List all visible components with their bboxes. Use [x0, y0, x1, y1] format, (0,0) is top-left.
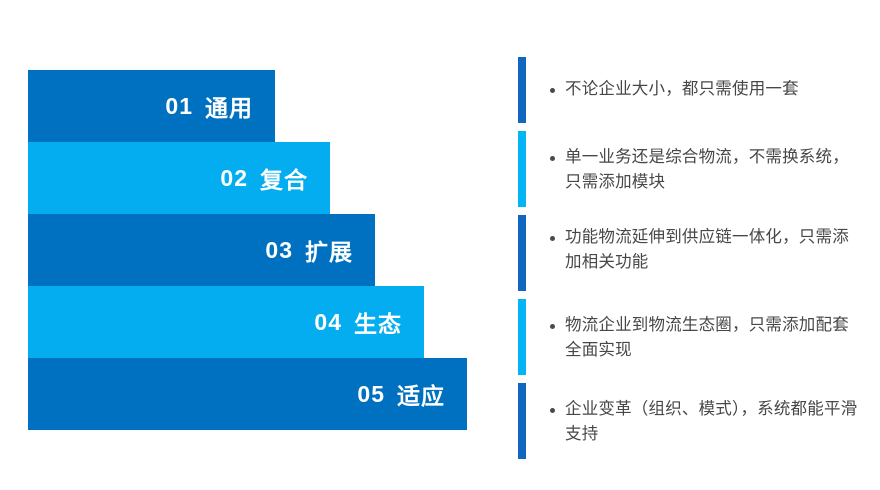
accent-bar-icon-2: [518, 131, 526, 207]
point-text-2: 单一业务还是综合物流，不需换系统，只需添加模块: [565, 145, 858, 195]
accent-bar-icon-4: [518, 299, 526, 375]
point-text-wrap-5: 企业变革（组织、模式），系统都能平滑支持: [526, 383, 858, 447]
staircase-step-04-number: 04: [314, 309, 342, 336]
staircase-step-02-title: 复合: [260, 161, 308, 195]
point-item-3[interactable]: 功能物流延伸到供应链一体化，只需添加相关功能: [518, 215, 858, 291]
staircase-step-02[interactable]: 02 复合: [28, 142, 330, 214]
point-item-2[interactable]: 单一业务还是综合物流，不需换系统，只需添加模块: [518, 131, 858, 207]
points-list: 不论企业大小，都只需使用一套 单一业务还是综合物流，不需换系统，只需添加模块 功…: [518, 57, 858, 437]
point-text-4: 物流企业到物流生态圈，只需添加配套全面实现: [565, 313, 858, 363]
slide-canvas: 01 通用 02 复合 03 扩展 04 生态 05 适应 不论企业大小，都只需…: [0, 0, 880, 490]
point-item-1[interactable]: 不论企业大小，都只需使用一套: [518, 57, 858, 123]
staircase-step-05-number: 05: [357, 381, 385, 408]
staircase-step-03-number: 03: [265, 237, 293, 264]
staircase-diagram: 01 通用 02 复合 03 扩展 04 生态 05 适应: [28, 70, 468, 430]
staircase-step-01-title: 通用: [205, 89, 253, 123]
staircase-step-04[interactable]: 04 生态: [28, 286, 424, 358]
staircase-step-03-title: 扩展: [305, 233, 353, 267]
staircase-step-04-title: 生态: [354, 305, 402, 339]
staircase-step-01[interactable]: 01 通用: [28, 70, 275, 142]
point-text-wrap-1: 不论企业大小，都只需使用一套: [526, 57, 799, 102]
point-text-wrap-2: 单一业务还是综合物流，不需换系统，只需添加模块: [526, 131, 858, 195]
point-text-wrap-4: 物流企业到物流生态圈，只需添加配套全面实现: [526, 299, 858, 363]
accent-bar-icon-3: [518, 215, 526, 291]
bullet-dot-icon-4: [550, 324, 555, 329]
point-item-5[interactable]: 企业变革（组织、模式），系统都能平滑支持: [518, 383, 858, 459]
bullet-dot-icon-3: [550, 236, 555, 241]
bullet-dot-icon-5: [550, 408, 555, 413]
staircase-step-05-title: 适应: [397, 377, 445, 411]
accent-bar-icon-5: [518, 383, 526, 459]
point-text-5: 企业变革（组织、模式），系统都能平滑支持: [565, 397, 858, 447]
point-text-3: 功能物流延伸到供应链一体化，只需添加相关功能: [565, 225, 858, 275]
staircase-step-01-number: 01: [165, 93, 193, 120]
bullet-dot-icon-2: [550, 156, 555, 161]
accent-bar-icon-1: [518, 57, 526, 123]
point-text-1: 不论企业大小，都只需使用一套: [565, 77, 799, 102]
bullet-dot-icon-1: [550, 88, 555, 93]
staircase-step-03[interactable]: 03 扩展: [28, 214, 375, 286]
point-text-wrap-3: 功能物流延伸到供应链一体化，只需添加相关功能: [526, 215, 858, 275]
staircase-step-05[interactable]: 05 适应: [28, 358, 467, 430]
staircase-step-02-number: 02: [220, 165, 248, 192]
point-item-4[interactable]: 物流企业到物流生态圈，只需添加配套全面实现: [518, 299, 858, 375]
